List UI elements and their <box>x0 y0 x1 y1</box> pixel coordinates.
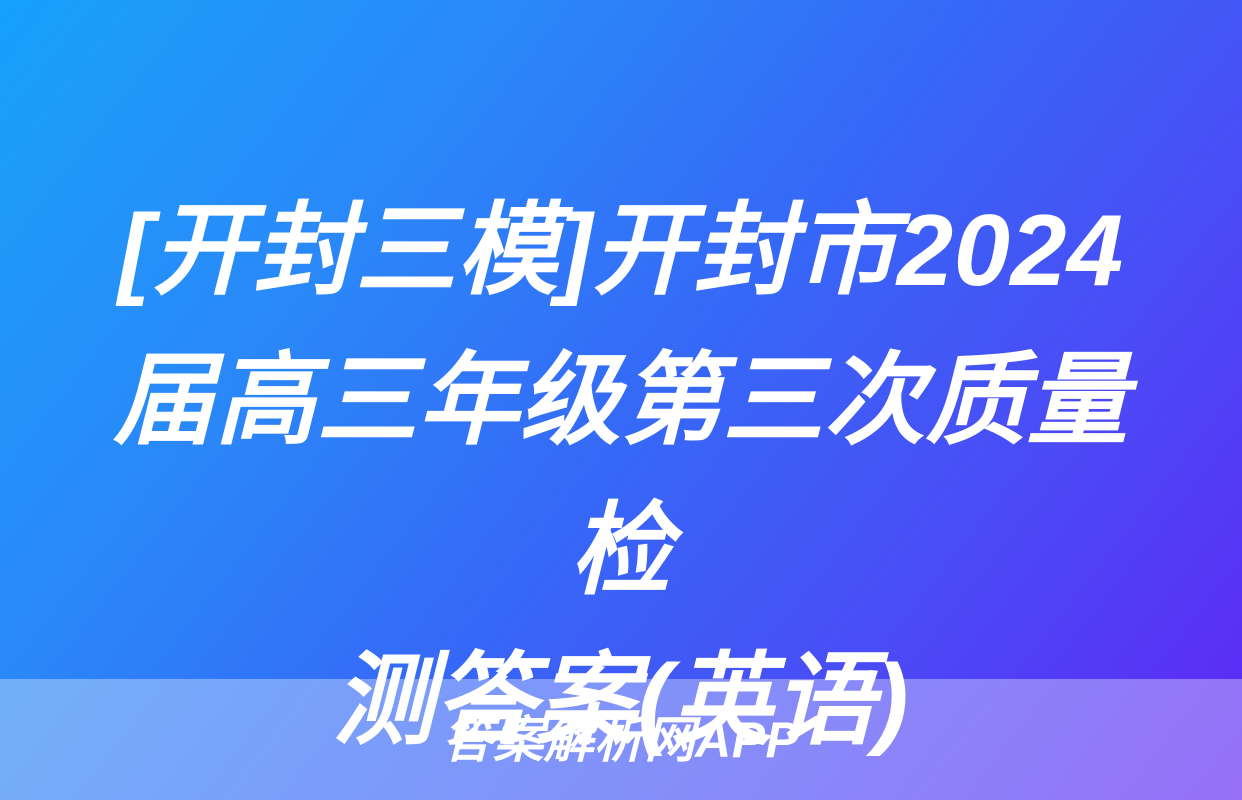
cover-card: [开封三模]开封市2024 届高三年级第三次质量检 测答案(英语) 答案解析网A… <box>0 0 1242 800</box>
app-watermark-label: 答案解析网APP <box>443 715 800 765</box>
watermark-band: 答案解析网APP <box>0 679 1242 800</box>
